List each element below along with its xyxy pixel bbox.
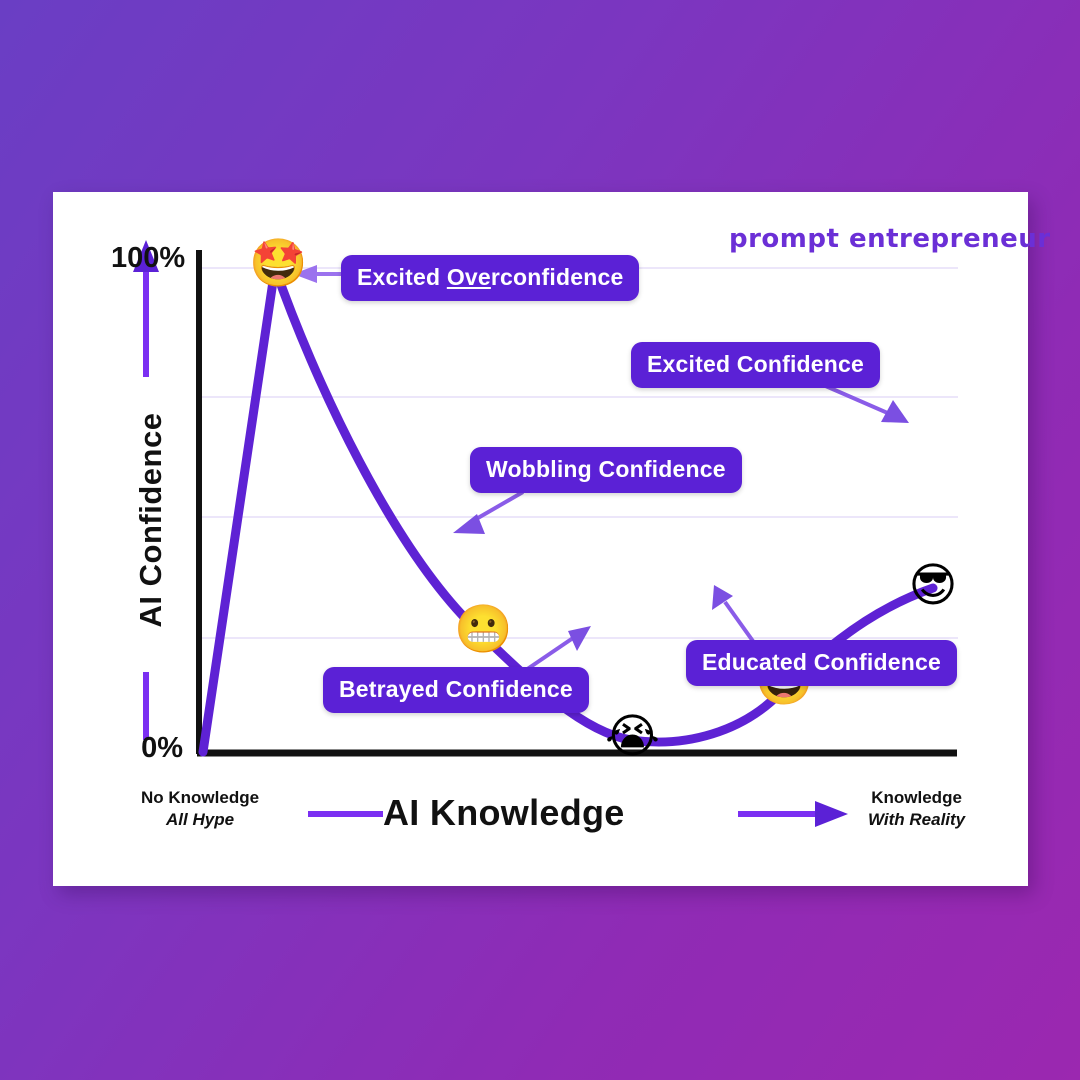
x-axis-left-note-line2: All Hype bbox=[141, 809, 259, 831]
x-axis-left-note-line1: No Knowledge bbox=[141, 787, 259, 809]
callout-excited-confidence[interactable]: Excited Confidence bbox=[631, 342, 880, 388]
marker-grimacing-face: 😬 bbox=[454, 606, 506, 658]
callout-excited-overconfidence[interactable]: Excited Overconfidence bbox=[341, 255, 639, 301]
callout-educated-confidence[interactable]: Educated Confidence bbox=[686, 640, 957, 686]
x-axis-left-note: No Knowledge All Hype bbox=[141, 787, 259, 832]
x-axis-title: AI Knowledge bbox=[383, 792, 625, 834]
callout-label-underlined: Ove bbox=[447, 264, 491, 290]
x-axis-right-note-line1: Knowledge bbox=[868, 787, 965, 809]
marker-loudly-crying-face: 😭 bbox=[605, 713, 657, 765]
x-axis-right-note: Knowledge With Reality bbox=[868, 787, 965, 832]
y-axis-tick-100: 100% bbox=[111, 242, 183, 275]
callout-label-prefix: Excited bbox=[357, 264, 447, 290]
callout-wobbling-confidence[interactable]: Wobbling Confidence bbox=[470, 447, 742, 493]
x-direction-arrow-icon bbox=[738, 801, 848, 827]
chart-card: prompt entrepreneur bbox=[53, 192, 1028, 886]
y-axis-tick-0: 0% bbox=[123, 732, 183, 765]
marker-star-struck-face: 🤩 bbox=[249, 240, 301, 292]
callout-label-suffix: rconfidence bbox=[491, 264, 624, 290]
y-axis-title: AI Confidence bbox=[133, 395, 169, 645]
marker-sunglasses-face: 😎 bbox=[907, 562, 959, 614]
x-axis-right-note-line2: With Reality bbox=[868, 809, 965, 831]
chart-plot-area: 100% 0% AI Confidence AI Knowledge No Kn… bbox=[53, 192, 1028, 886]
callout-betrayed-confidence[interactable]: Betrayed Confidence bbox=[323, 667, 589, 713]
page-root: prompt entrepreneur bbox=[0, 0, 1080, 1080]
